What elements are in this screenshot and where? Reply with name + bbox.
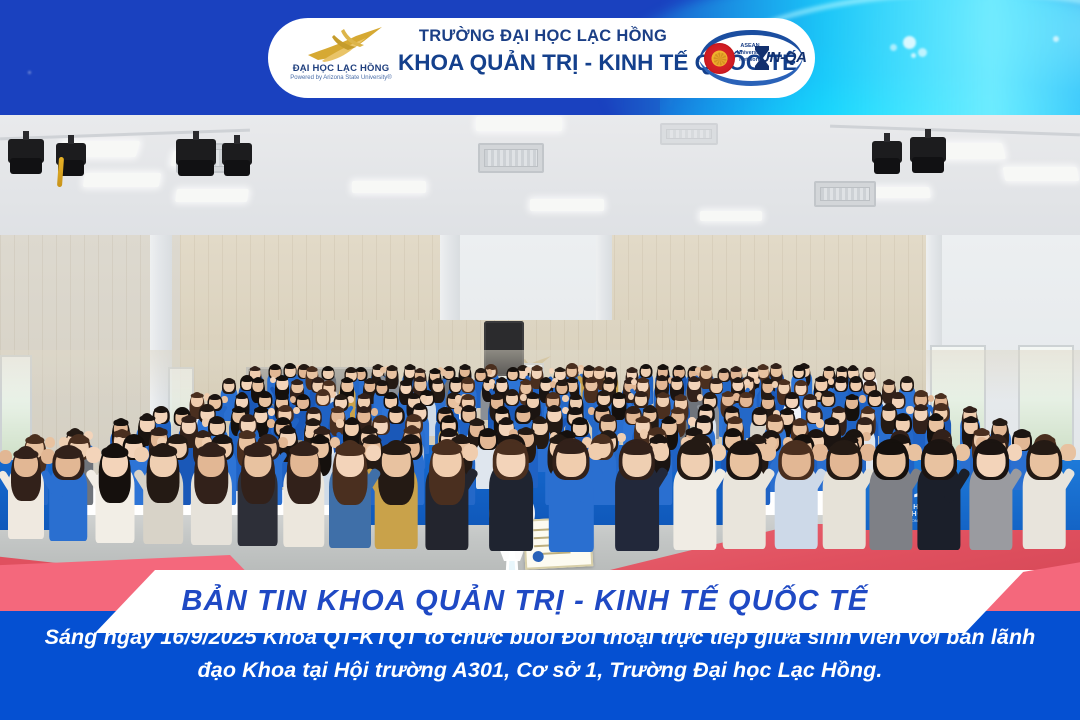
person-hand (463, 444, 479, 461)
person-fringe (278, 406, 292, 412)
newsletter-graphic: ĐẠI HỌC LẠC HỒNG Powered by Arizona Stat… (0, 0, 1080, 720)
person-fringe (567, 364, 578, 369)
person-hand (86, 447, 100, 463)
person-fringe (232, 407, 246, 413)
person-fringe (740, 393, 753, 398)
person-fringe (505, 390, 518, 395)
person-fringe (718, 369, 729, 374)
person-fringe (637, 378, 649, 383)
person-fringe (289, 444, 318, 456)
person-fringe (197, 445, 225, 457)
bokeh-dot (911, 53, 916, 58)
lhu-logo-name: ĐẠI HỌC LẠC HỒNG (282, 63, 400, 74)
person-fringe (277, 376, 289, 381)
faculty-name: KHOA QUẢN TRỊ - KINH TẾ QUỐC TẾ (398, 48, 688, 78)
person-fringe (598, 391, 611, 396)
person (1026, 438, 1063, 552)
person-fringe (25, 436, 44, 444)
header-bar: ĐẠI HỌC LẠC HỒNG Powered by Arizona Stat… (0, 0, 1080, 115)
person-fringe (55, 447, 81, 458)
person-fringe (762, 395, 775, 400)
person-hand (221, 396, 228, 403)
person-fringe (149, 445, 177, 457)
person-fringe (516, 407, 530, 413)
person-fringe (462, 395, 475, 400)
person-fringe (520, 380, 532, 385)
person (826, 438, 863, 552)
person-fringe (413, 405, 427, 411)
person (286, 440, 322, 550)
person-fringe (622, 442, 653, 455)
person-fringe (292, 380, 304, 385)
person-fringe (704, 394, 717, 399)
person-fringe (658, 365, 669, 370)
person-fringe (671, 408, 685, 414)
person-fringe (414, 377, 426, 382)
person-fringe (475, 369, 486, 374)
person-fringe (307, 408, 321, 414)
person-fringe (882, 405, 896, 411)
bottom-banner: BẢN TIN KHOA QUẢN TRỊ - KINH TẾ QUỐC TẾ … (0, 555, 1080, 720)
person-fringe (837, 367, 848, 372)
person-fringe (208, 395, 221, 400)
person (146, 441, 180, 547)
person-hand (1007, 444, 1023, 461)
person-fringe (585, 378, 597, 383)
person-fringe (914, 405, 928, 411)
person (492, 437, 530, 554)
person-fringe (432, 442, 462, 455)
person-fringe (285, 364, 296, 369)
person-fringe (386, 366, 397, 371)
person-fringe (462, 406, 476, 412)
person-hand (955, 444, 971, 461)
person-hand (653, 443, 669, 461)
person-fringe (279, 427, 296, 434)
person-fringe (408, 394, 421, 399)
person-fringe (786, 393, 799, 398)
person-fringe (864, 368, 875, 373)
person-fringe (861, 408, 875, 414)
person-fringe (731, 367, 742, 372)
person-fringe (876, 442, 906, 455)
person-fringe (527, 393, 540, 398)
person-fringe (848, 367, 859, 372)
person-fringe (414, 369, 425, 374)
person-fringe (689, 377, 701, 382)
person-fringe (569, 395, 582, 400)
caption-text: Sáng ngày 16/9/2025 Khoa QT-KTQT tổ chức… (0, 621, 1080, 687)
person-hand (366, 445, 381, 462)
person-fringe (507, 368, 518, 373)
person (618, 437, 656, 554)
person (332, 439, 368, 551)
bokeh-dot (903, 36, 916, 49)
person (378, 438, 415, 552)
person-fringe (430, 369, 441, 374)
person-fringe (675, 395, 688, 400)
person-fringe (358, 394, 371, 399)
person-fringe (613, 393, 626, 398)
person-fringe (850, 377, 862, 382)
person-hand (347, 396, 354, 403)
person-fringe (804, 395, 817, 400)
bokeh-dot (918, 48, 927, 57)
person-fringe (252, 378, 264, 383)
person-fringe (223, 379, 235, 384)
person-fringe (568, 409, 582, 415)
person-fringe (901, 378, 913, 383)
person-fringe (846, 395, 859, 400)
person-fringe (259, 393, 272, 398)
person-fringe (782, 443, 812, 456)
person (10, 445, 41, 541)
person (676, 438, 713, 553)
person-fringe (460, 365, 471, 370)
person-fringe (892, 394, 905, 399)
person (920, 438, 957, 553)
person-fringe (595, 406, 609, 412)
person-fringe (438, 408, 452, 414)
bokeh-dot (28, 71, 31, 74)
person-fringe (101, 446, 128, 458)
person-fringe (635, 392, 648, 397)
person-fringe (924, 442, 954, 455)
person-fringe (496, 378, 508, 383)
person-fringe (316, 391, 329, 396)
person-fringe (830, 443, 860, 456)
lhu-logo: ĐẠI HỌC LẠC HỒNG Powered by Arizona Stat… (282, 23, 400, 93)
lhu-bird-icon (304, 25, 384, 63)
person-fringe (479, 429, 496, 436)
person-hand (420, 395, 427, 402)
bokeh-dot (1053, 36, 1059, 42)
person-fringe (346, 368, 357, 373)
crowd-group (0, 115, 1080, 570)
person-fringe (807, 407, 821, 413)
person-fringe (883, 380, 895, 385)
person-fringe (603, 379, 615, 384)
lhu-logo-tagline: Powered by Arizona State University® (282, 75, 400, 81)
person-fringe (816, 377, 828, 382)
person-fringe (254, 407, 268, 413)
person-fringe (793, 366, 804, 371)
person-fringe (331, 407, 345, 413)
person-fringe (674, 366, 685, 371)
bokeh-dot (890, 44, 897, 51)
person-fringe (239, 431, 256, 438)
person-fringe (1030, 443, 1060, 456)
person-fringe (701, 366, 712, 371)
person-fringe (548, 406, 562, 412)
person-fringe (711, 379, 723, 384)
person-fringe (976, 442, 1006, 455)
person-fringe (730, 443, 760, 456)
person-fringe (235, 394, 248, 399)
aun-qa-label: UN-QA (759, 49, 807, 66)
header-title-pill: ĐẠI HỌC LẠC HỒNG Powered by Arizona Stat… (268, 18, 815, 98)
person (428, 438, 465, 553)
person-fringe (191, 393, 204, 398)
person-fringe (270, 365, 281, 370)
person-fringe (555, 368, 566, 373)
person-fringe (1014, 430, 1031, 437)
person-fringe (724, 430, 741, 437)
person-fringe (640, 365, 651, 370)
person-fringe (462, 379, 474, 384)
person-fringe (721, 392, 734, 397)
person-fringe (699, 405, 713, 411)
person-fringe (297, 395, 310, 400)
person-fringe (934, 405, 948, 411)
person (726, 438, 763, 552)
person-fringe (276, 394, 289, 399)
person-fringe (556, 381, 568, 386)
person-hand (1060, 444, 1076, 461)
person-fringe (963, 407, 977, 413)
person-fringe (531, 366, 542, 371)
person-fringe (656, 376, 668, 381)
person-fringe (657, 393, 670, 398)
person-fringe (495, 408, 509, 414)
person-fringe (795, 381, 807, 386)
person-hand (588, 443, 604, 461)
person (552, 437, 590, 555)
event-photo: LAC HONG UNIVERSITY ĐẠI HỌC LẠC HỒNG ĐẠI… (0, 115, 1080, 570)
person-fringe (201, 406, 215, 412)
person (194, 441, 229, 548)
person-fringe (342, 378, 354, 383)
person-hand (744, 379, 750, 386)
person-fringe (748, 368, 759, 373)
person-fringe (823, 367, 834, 372)
person-fringe (725, 407, 739, 413)
person-fringe (384, 393, 397, 398)
person-fringe (605, 367, 616, 372)
person-fringe (680, 442, 710, 455)
person (778, 438, 815, 552)
person-fringe (323, 367, 334, 372)
person-fringe (432, 379, 444, 384)
person (98, 442, 132, 546)
person-fringe (934, 394, 947, 399)
person-fringe (335, 395, 348, 400)
aun-qa-logo: ASEAN University Network UN-QA (695, 27, 807, 89)
person-fringe (382, 443, 412, 456)
person-hand (134, 447, 149, 463)
person-fringe (250, 367, 261, 372)
person-fringe (832, 407, 846, 413)
person-fringe (323, 381, 335, 386)
person-fringe (556, 441, 587, 454)
person-fringe (753, 409, 767, 415)
person-fringe (671, 377, 683, 382)
person-hand (859, 395, 866, 402)
person-fringe (496, 442, 527, 455)
person-fringe (335, 443, 364, 456)
person-fringe (357, 407, 371, 413)
person-fringe (13, 449, 38, 460)
person-fringe (243, 444, 272, 456)
person-fringe (822, 392, 835, 397)
person-hand (293, 407, 300, 415)
person-hand (711, 444, 727, 461)
person-fringe (732, 378, 744, 383)
person-fringe (778, 380, 790, 385)
person-fringe (400, 380, 412, 385)
person (972, 438, 1009, 553)
person-fringe (643, 407, 657, 413)
person-fringe (490, 394, 503, 399)
person-fringe (547, 393, 560, 398)
person-fringe (389, 407, 403, 413)
person-fringe (307, 367, 318, 372)
person-fringe (771, 364, 782, 369)
person (240, 440, 275, 549)
person (52, 444, 85, 544)
person-hand (760, 444, 776, 461)
header-title-block: TRƯỜNG ĐẠI HỌC LẠC HỒNG KHOA QUẢN TRỊ - … (398, 24, 688, 78)
person-fringe (376, 381, 388, 386)
person (872, 438, 909, 553)
person-fringe (868, 391, 881, 396)
person-fringe (627, 408, 641, 414)
person-fringe (864, 381, 876, 386)
person-fringe (835, 377, 847, 382)
person-fringe (915, 391, 928, 396)
university-name: TRƯỜNG ĐẠI HỌC LẠC HỒNG (398, 24, 688, 48)
person-fringe (627, 368, 638, 373)
person-hand (0, 450, 12, 464)
